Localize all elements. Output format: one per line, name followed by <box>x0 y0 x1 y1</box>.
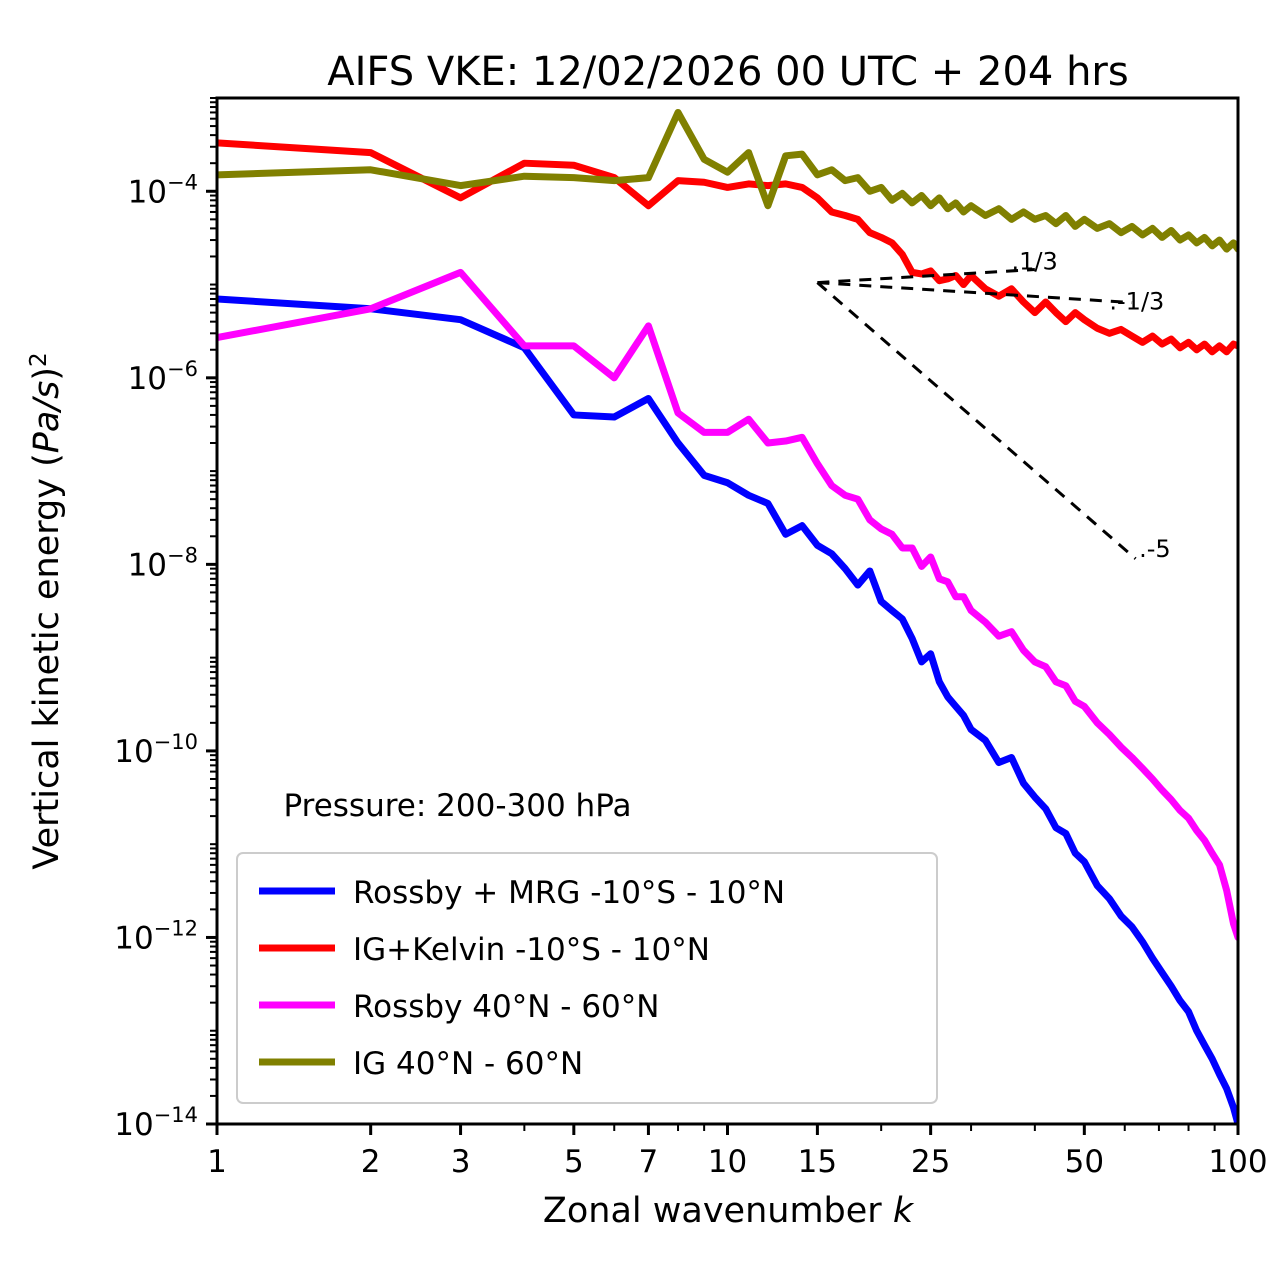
y-axis-label-main: Vertical kinetic energy ( <box>27 453 67 869</box>
y-axis-label: Vertical kinetic energy (Pa/s)2 <box>26 352 67 869</box>
y-axis-label-units: Pa/s <box>27 381 67 454</box>
chart-legend: Rossby + MRG -10°S - 10°NIG+Kelvin -10°S… <box>237 853 937 1103</box>
legend-label-2[interactable]: Rossby 40°N - 60°N <box>353 989 659 1025</box>
chart-canvas: AIFS VKE: 12/02/2026 00 UTC + 204 hrs Ve… <box>0 0 1280 1288</box>
x-axis-label-symbol: k <box>893 1191 915 1231</box>
slope-label-plus-one-third: .1/3 <box>1012 248 1058 276</box>
vke-spectrum-figure: AIFS VKE: 12/02/2026 00 UTC + 204 hrs Ve… <box>0 0 1280 1288</box>
x-tick-label: 50 <box>1065 1144 1104 1180</box>
x-tick-label: 10 <box>708 1144 747 1180</box>
legend-label-1[interactable]: IG+Kelvin -10°S - 10°N <box>353 932 710 968</box>
x-tick-label: 3 <box>451 1144 471 1180</box>
svg-text:Zonal wavenumber k: Zonal wavenumber k <box>543 1191 915 1231</box>
slope-label-minus-five: .-5 <box>1139 535 1171 563</box>
x-axis-label-main: Zonal wavenumber <box>543 1191 893 1231</box>
x-tick-label: 25 <box>911 1144 950 1180</box>
y-axis-label-tail: ) <box>27 367 67 381</box>
legend-label-3[interactable]: IG 40°N - 60°N <box>353 1046 583 1082</box>
x-tick-label: 100 <box>1208 1144 1267 1180</box>
pressure-annotation: Pressure: 200-300 hPa <box>284 788 632 824</box>
page-title: AIFS VKE: 12/02/2026 00 UTC + 204 hrs <box>327 49 1128 95</box>
x-axis-label: Zonal wavenumber k <box>543 1191 915 1231</box>
y-axis-label-exponent: 2 <box>26 352 52 367</box>
x-tick-label: 2 <box>361 1144 381 1180</box>
slope-label-minus-one-third: .-1/3 <box>1109 288 1164 316</box>
x-tick-label: 7 <box>639 1144 659 1180</box>
legend-label-0[interactable]: Rossby + MRG -10°S - 10°N <box>353 875 785 911</box>
x-tick-label: 1 <box>207 1144 227 1180</box>
x-tick-label: 15 <box>798 1144 837 1180</box>
x-tick-label: 5 <box>564 1144 584 1180</box>
svg-text:Vertical kinetic energy (Pa/s): Vertical kinetic energy (Pa/s)2 <box>26 352 67 869</box>
